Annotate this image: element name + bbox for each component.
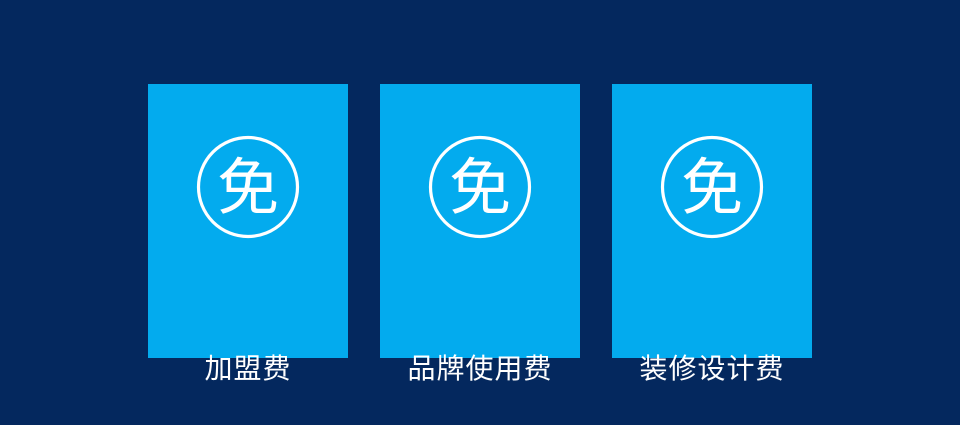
free-glyph-3: 免 [681, 151, 743, 224]
free-circle-icon: 免 [660, 135, 764, 239]
free-glyph-1: 免 [217, 151, 279, 224]
promo-banner: 免 加盟费 免 品牌使用费 免 装修设计费 [0, 0, 960, 425]
free-circle-icon: 免 [196, 135, 300, 239]
fee-card-design[interactable]: 免 装修设计费 [612, 84, 812, 358]
fee-card-brand[interactable]: 免 品牌使用费 [380, 84, 580, 358]
fee-card-join[interactable]: 免 加盟费 [148, 84, 348, 358]
fee-card-label-join: 加盟费 [148, 352, 348, 386]
fee-card-row: 免 加盟费 免 品牌使用费 免 装修设计费 [148, 84, 812, 358]
free-glyph-2: 免 [449, 151, 511, 224]
fee-card-label-brand: 品牌使用费 [380, 352, 580, 386]
fee-card-label-design: 装修设计费 [612, 352, 812, 386]
free-circle-icon: 免 [428, 135, 532, 239]
